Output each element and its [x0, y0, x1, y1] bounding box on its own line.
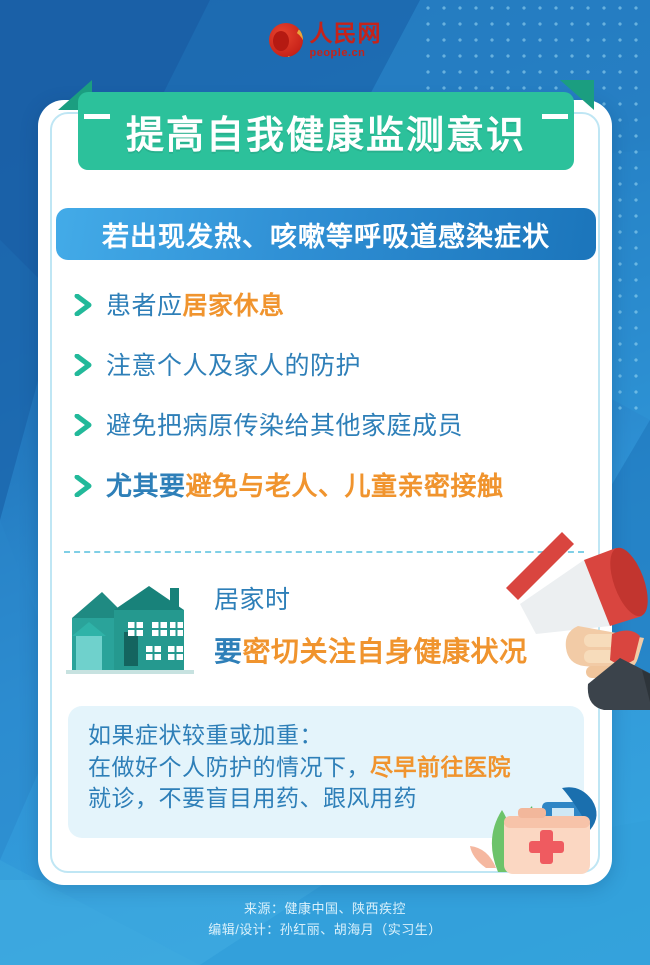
list-item: 患者应居家休息	[74, 286, 594, 322]
house-icon	[66, 584, 194, 680]
footer-editors: 编辑/设计：孙红丽、胡海月（实习生）	[0, 919, 650, 940]
chevron-right-icon	[74, 294, 94, 316]
note-line-2: 在做好个人防护的情况下，尽早前往医院	[88, 752, 511, 784]
home-advice-line2-plain: 要	[214, 636, 243, 667]
bullet-text-highlight: 居家休息	[183, 292, 285, 320]
list-item: 避免把病原传染给其他家庭成员	[74, 406, 594, 442]
note-line-3: 就诊，不要盲目用药、跟风用药	[88, 783, 511, 815]
logo-text-en: people.cn	[310, 48, 382, 59]
poster-root: 人民网 people.cn 提高自我健康监测意识 若出现发热、咳嗽等呼吸道感染症…	[0, 0, 650, 965]
footer-source: 来源：健康中国、陕西疾控	[0, 898, 650, 919]
home-advice-line2-highlight: 密切关注自身健康状况	[243, 636, 528, 667]
page-title: 提高自我健康监测意识	[78, 92, 574, 170]
megaphone-hand-icon	[492, 530, 650, 710]
note-line-1: 如果症状较重或加重：	[88, 720, 511, 752]
title-ribbon: 提高自我健康监测意识	[58, 92, 594, 170]
home-advice-line1: 居家时	[214, 580, 528, 616]
bullet-text-plain: 避免把病原传染给其他家庭成员	[106, 412, 463, 440]
bullet-text-plain: 患者应	[106, 292, 183, 320]
bullet-text-plain: 注意个人及家人的防护	[106, 352, 361, 380]
list-item: 尤其要避免与老人、儿童亲密接触	[74, 466, 594, 503]
first-aid-kit-icon	[452, 772, 602, 884]
people-daily-logo-icon	[269, 23, 303, 57]
chevron-right-icon	[74, 475, 94, 497]
bullet-text-highlight: 避免与老人、儿童亲密接触	[186, 471, 504, 501]
logo-text-cn: 人民网	[310, 22, 382, 45]
chevron-right-icon	[74, 354, 94, 376]
list-item: 注意个人及家人的防护	[74, 346, 594, 382]
site-logo: 人民网 people.cn	[0, 14, 650, 66]
bullet-list: 患者应居家休息 注意个人及家人的防护 避免把病原传染给其他家庭成员	[74, 286, 594, 527]
bullet-text-plain: 尤其要	[106, 471, 186, 501]
chevron-right-icon	[74, 414, 94, 436]
footer-credits: 来源：健康中国、陕西疾控 编辑/设计：孙红丽、胡海月（实习生）	[0, 898, 650, 941]
subtitle-banner: 若出现发热、咳嗽等呼吸道感染症状	[56, 208, 596, 260]
note-line-2-plain: 在做好个人防护的情况下，	[88, 754, 370, 780]
